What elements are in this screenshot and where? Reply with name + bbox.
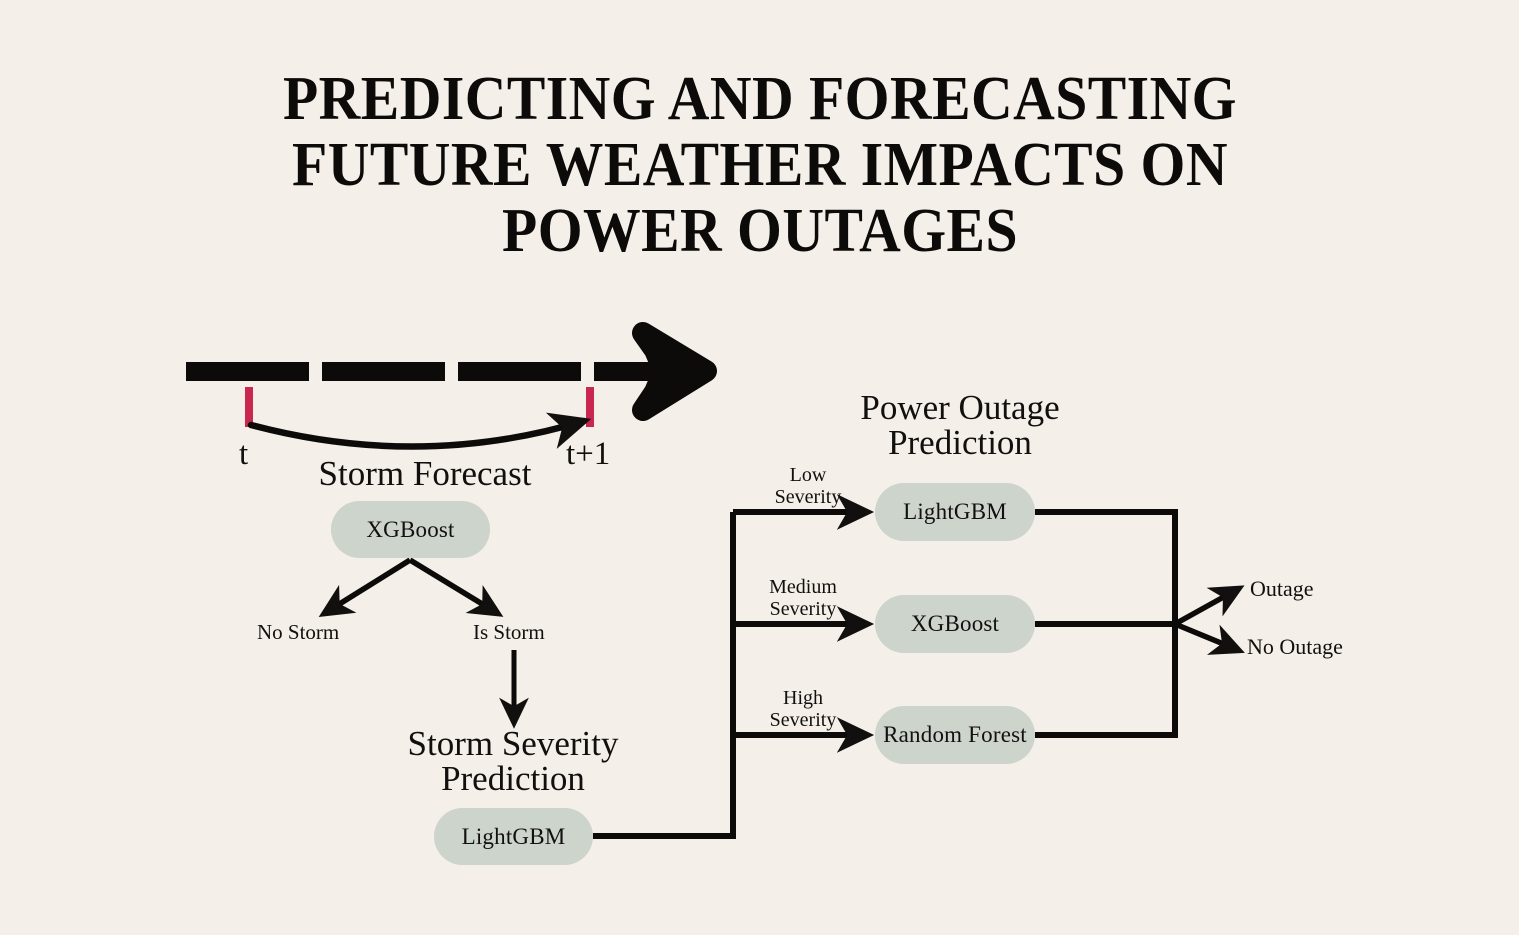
outcome-arrow-no-outage xyxy=(1175,624,1238,650)
outcome-label-no-outage: No Outage xyxy=(1247,634,1343,660)
node-medium-severity-model[interactable]: XGBoost xyxy=(875,595,1035,653)
node-storm-severity-model[interactable]: LightGBM xyxy=(434,808,593,865)
section-heading-storm-forecast: Storm Forecast xyxy=(250,456,600,491)
severity-label-high: High Severity xyxy=(745,687,861,731)
timeline-label-t: t xyxy=(239,438,248,471)
node-low-severity-model[interactable]: LightGBM xyxy=(875,483,1035,541)
section-heading-storm-severity: Storm Severity Prediction xyxy=(358,726,668,796)
severity-label-medium: Medium Severity xyxy=(740,576,866,620)
outcome-arrow-outage xyxy=(1175,589,1238,624)
timeline-bar xyxy=(186,333,706,410)
section-heading-power-outage: Power Outage Prediction xyxy=(815,390,1105,460)
node-storm-forecast-model[interactable]: XGBoost xyxy=(331,501,490,558)
branch-arrow-is-storm xyxy=(410,560,497,613)
branch-label-no-storm: No Storm xyxy=(257,622,339,643)
branch-arrow-no-storm xyxy=(325,560,410,613)
timeline-arrowhead xyxy=(643,333,706,410)
outcome-label-outage: Outage xyxy=(1250,576,1314,602)
branch-label-is-storm: Is Storm xyxy=(473,622,545,643)
storm-forecast-curved-arrow xyxy=(251,421,584,447)
poster-canvas: PREDICTING AND FORECASTING FUTURE WEATHE… xyxy=(0,0,1519,935)
node-high-severity-model[interactable]: Random Forest xyxy=(875,706,1035,764)
severity-label-low: Low Severity xyxy=(750,464,866,508)
timeline-tick-start xyxy=(245,387,253,427)
